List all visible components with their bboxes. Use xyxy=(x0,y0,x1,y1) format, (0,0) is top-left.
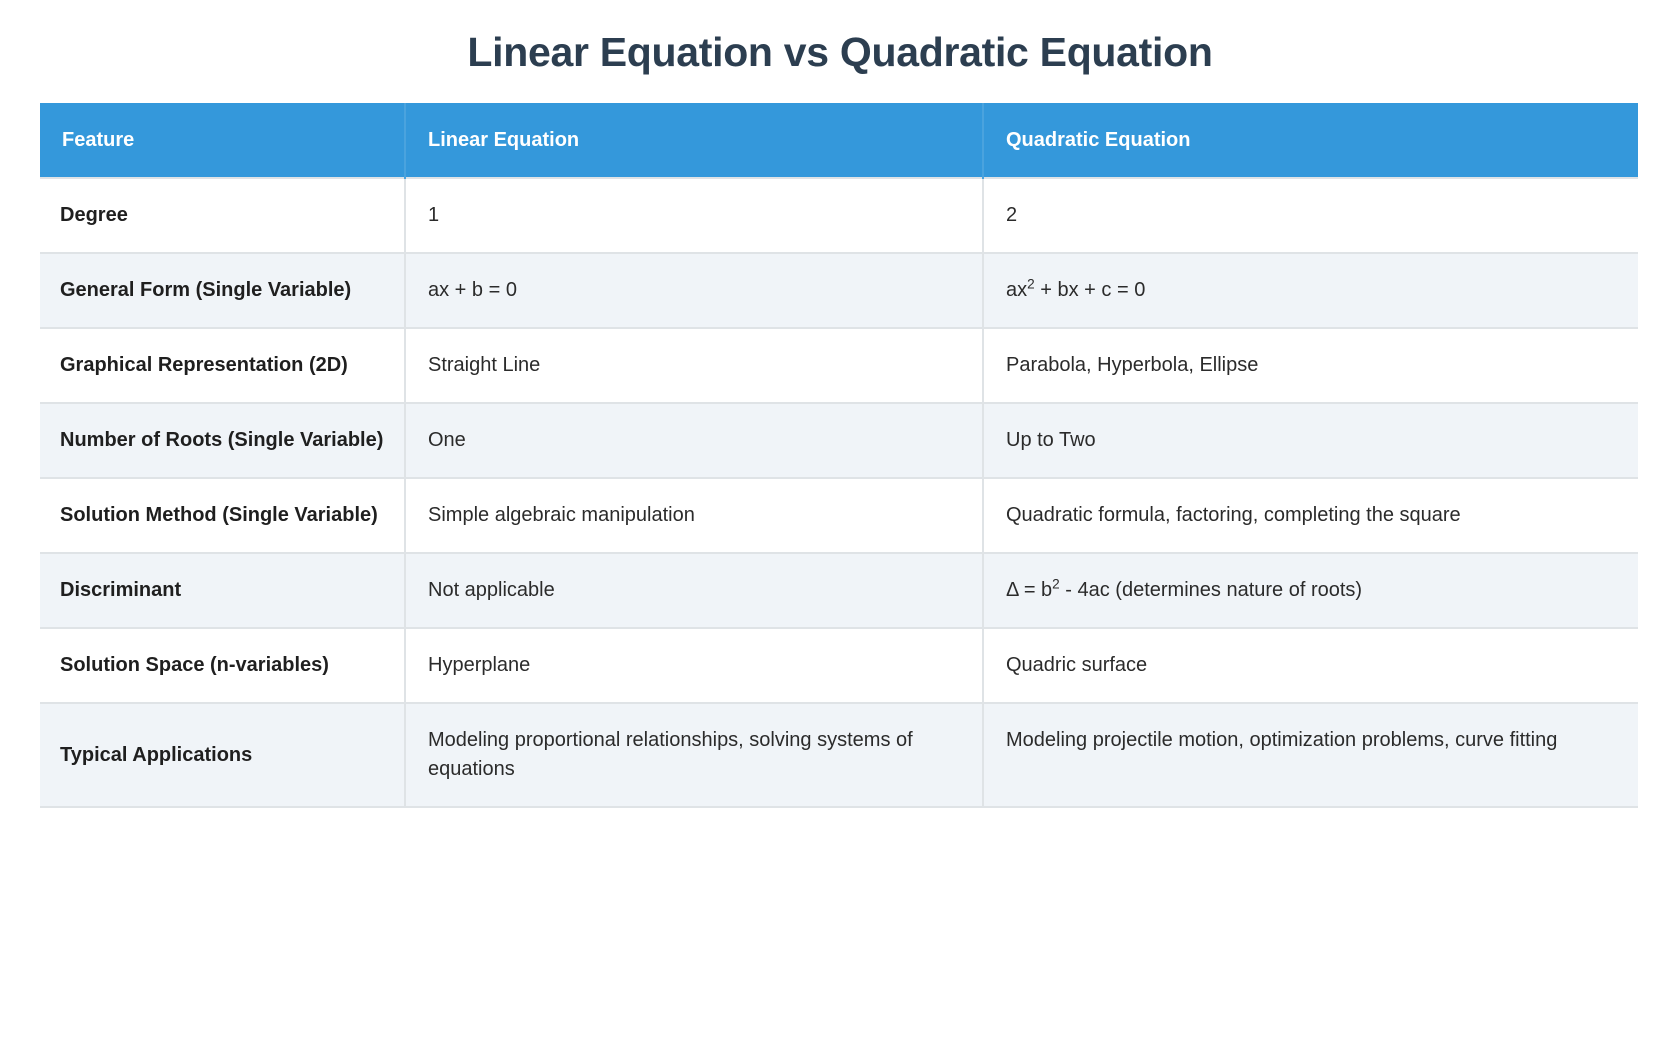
cell-quadratic: Parabola, Hyperbola, Ellipse xyxy=(983,328,1638,403)
row-feature-label: Solution Method (Single Variable) xyxy=(40,478,405,553)
table-row: Solution Space (n-variables) Hyperplane … xyxy=(40,628,1638,703)
cell-quadratic: Quadratic formula, factoring, completing… xyxy=(983,478,1638,553)
row-feature-label: General Form (Single Variable) xyxy=(40,253,405,328)
cell-quadratic: ax2 + bx + c = 0 xyxy=(983,253,1638,328)
row-feature-label: Typical Applications xyxy=(40,703,405,807)
cell-linear: Modeling proportional relationships, sol… xyxy=(405,703,983,807)
row-feature-label: Solution Space (n-variables) xyxy=(40,628,405,703)
column-header-linear-equation: Linear Equation xyxy=(405,103,983,178)
page-title: Linear Equation vs Quadratic Equation xyxy=(0,0,1680,77)
table-row: Solution Method (Single Variable) Simple… xyxy=(40,478,1638,553)
table-row: General Form (Single Variable) ax + b = … xyxy=(40,253,1638,328)
cell-linear: Not applicable xyxy=(405,553,983,628)
row-feature-label: Number of Roots (Single Variable) xyxy=(40,403,405,478)
table-row: Number of Roots (Single Variable) One Up… xyxy=(40,403,1638,478)
row-feature-label: Discriminant xyxy=(40,553,405,628)
table-row: Degree 1 2 xyxy=(40,178,1638,253)
table-header: Feature Linear Equation Quadratic Equati… xyxy=(40,103,1638,178)
comparison-table: Feature Linear Equation Quadratic Equati… xyxy=(40,103,1638,808)
table-row: Graphical Representation (2D) Straight L… xyxy=(40,328,1638,403)
table-container: Feature Linear Equation Quadratic Equati… xyxy=(40,103,1638,808)
cell-quadratic: Up to Two xyxy=(983,403,1638,478)
cell-linear: Hyperplane xyxy=(405,628,983,703)
cell-linear: ax + b = 0 xyxy=(405,253,983,328)
cell-quadratic: Quadric surface xyxy=(983,628,1638,703)
cell-linear: 1 xyxy=(405,178,983,253)
header-row: Feature Linear Equation Quadratic Equati… xyxy=(40,103,1638,178)
column-header-feature: Feature xyxy=(40,103,405,178)
cell-linear: Simple algebraic manipulation xyxy=(405,478,983,553)
row-feature-label: Graphical Representation (2D) xyxy=(40,328,405,403)
comparison-table-page: Linear Equation vs Quadratic Equation Fe… xyxy=(0,0,1680,1054)
table-row: Discriminant Not applicable Δ = b2 - 4ac… xyxy=(40,553,1638,628)
cell-quadratic: 2 xyxy=(983,178,1638,253)
column-header-quadratic-equation: Quadratic Equation xyxy=(983,103,1638,178)
cell-quadratic: Modeling projectile motion, optimization… xyxy=(983,703,1638,807)
table-body: Degree 1 2 General Form (Single Variable… xyxy=(40,178,1638,807)
table-row: Typical Applications Modeling proportion… xyxy=(40,703,1638,807)
row-feature-label: Degree xyxy=(40,178,405,253)
cell-linear: One xyxy=(405,403,983,478)
cell-linear: Straight Line xyxy=(405,328,983,403)
cell-quadratic: Δ = b2 - 4ac (determines nature of roots… xyxy=(983,553,1638,628)
